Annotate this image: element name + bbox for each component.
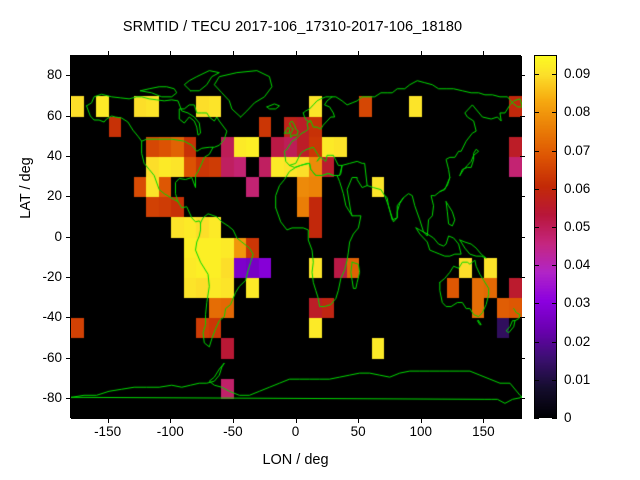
colorbar-tick [534, 418, 539, 419]
x-axis-tick-label: 0 [261, 424, 331, 439]
x-axis-label: LON / deg [70, 452, 521, 468]
colorbar-tick-label: 0.06 [564, 181, 590, 196]
colorbar-tick-label: 0.02 [564, 334, 590, 349]
colorbar-tick [534, 112, 539, 113]
colorbar-tick-label: 0.07 [564, 143, 590, 158]
colorbar-tick [552, 112, 557, 113]
x-axis-tick [108, 51, 109, 56]
y-axis-tick-label: 80 [10, 67, 62, 82]
colorbar-tick [552, 265, 557, 266]
x-axis-tick [233, 51, 234, 56]
colorbar-tick-label: 0.04 [564, 257, 590, 272]
colorbar-tick [534, 189, 539, 190]
x-axis-tick [421, 51, 422, 56]
y-axis-tick [520, 196, 525, 197]
colorbar-tick [552, 303, 557, 304]
y-axis-tick [66, 237, 71, 238]
colorbar-tick [552, 342, 557, 343]
y-axis-tick [520, 317, 525, 318]
y-axis-tick [520, 398, 525, 399]
y-axis-tick [66, 398, 71, 399]
colorbar-tick [552, 151, 557, 152]
x-axis-tick [483, 51, 484, 56]
y-axis-tick [66, 358, 71, 359]
y-axis-tick [66, 277, 71, 278]
x-axis-tick [421, 418, 422, 423]
figure-canvas: SRMTID / TECU 2017-106_17310-2017-106_18… [0, 0, 640, 480]
x-axis-tick-label: 50 [323, 424, 393, 439]
colorbar-tick-label: 0.05 [564, 219, 590, 234]
y-axis-tick [520, 277, 525, 278]
y-axis-tick [66, 116, 71, 117]
x-axis-tick-label: 100 [386, 424, 456, 439]
colorbar-tick [534, 74, 539, 75]
y-axis-tick-label: -80 [10, 390, 62, 405]
x-axis-tick [233, 418, 234, 423]
colorbar-tick-label: 0.09 [564, 66, 590, 81]
colorbar [534, 55, 557, 418]
heatmap-plot-area [71, 56, 522, 419]
colorbar-tick [534, 265, 539, 266]
colorbar-tick-label: 0.03 [564, 295, 590, 310]
x-axis-tick-label: -100 [135, 424, 205, 439]
colorbar-tick [552, 74, 557, 75]
colorbar-tick [534, 342, 539, 343]
y-axis-tick-label: -60 [10, 350, 62, 365]
y-axis-label: LAT / deg [18, 98, 34, 278]
colorbar-tick [534, 380, 539, 381]
colorbar-tick [552, 380, 557, 381]
heatmap-axes [70, 55, 521, 418]
x-axis-tick [296, 418, 297, 423]
x-axis-tick [108, 418, 109, 423]
y-axis-tick [66, 196, 71, 197]
y-axis-tick [520, 75, 525, 76]
y-axis-tick [520, 237, 525, 238]
x-axis-tick [483, 418, 484, 423]
y-axis-tick [66, 317, 71, 318]
colorbar-tick-label: 0.01 [564, 372, 590, 387]
colorbar-tick [552, 418, 557, 419]
colorbar-tick [552, 227, 557, 228]
x-axis-tick-label: -50 [198, 424, 268, 439]
x-axis-tick [296, 51, 297, 56]
x-axis-tick [170, 418, 171, 423]
y-axis-tick [520, 156, 525, 157]
colorbar-tick [552, 189, 557, 190]
x-axis-tick [358, 51, 359, 56]
y-axis-tick [66, 75, 71, 76]
colorbar-tick-label: 0 [564, 410, 572, 425]
colorbar-tick [534, 303, 539, 304]
x-axis-tick [170, 51, 171, 56]
page-title: SRMTID / TECU 2017-106_17310-2017-106_18… [0, 19, 585, 35]
y-axis-tick [66, 156, 71, 157]
colorbar-gradient [535, 56, 556, 417]
x-axis-tick-label: 150 [448, 424, 518, 439]
colorbar-tick-label: 0.08 [564, 104, 590, 119]
x-axis-tick [358, 418, 359, 423]
y-axis-tick [520, 358, 525, 359]
x-axis-tick-label: -150 [73, 424, 143, 439]
colorbar-tick [534, 227, 539, 228]
y-axis-tick-label: -40 [10, 309, 62, 324]
colorbar-tick [534, 151, 539, 152]
y-axis-tick [520, 116, 525, 117]
